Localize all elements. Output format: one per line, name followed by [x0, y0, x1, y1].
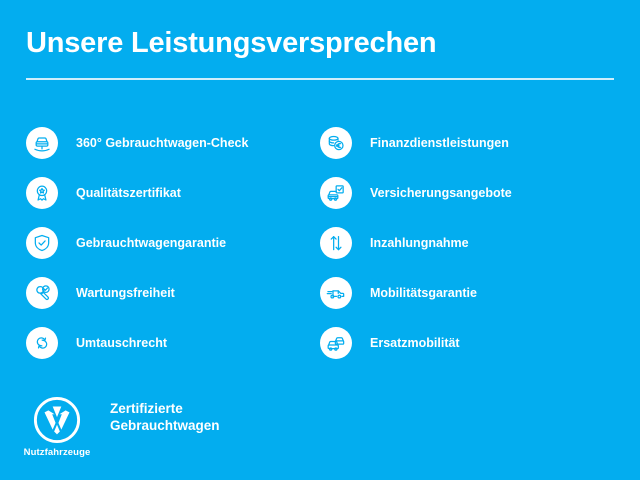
promise-label: Umtauschrecht — [76, 335, 167, 351]
promise-item-inzahlungnahme[interactable]: Inzahlungnahme — [320, 218, 614, 268]
up-down-arrows-icon — [320, 227, 352, 259]
promise-label: Wartungsfreiheit — [76, 285, 175, 301]
promise-item-umtauschrecht[interactable]: Umtauschrecht — [26, 318, 320, 368]
vw-roundel-logo — [33, 396, 81, 444]
car-inspection-icon — [26, 127, 58, 159]
promises-list: 360° Gebrauchtwagen-Check Qualitätszerti… — [26, 118, 614, 368]
promise-item-gebrauchtwagengarantie[interactable]: Gebrauchtwagengarantie — [26, 218, 320, 268]
promise-label: Inzahlungnahme — [370, 235, 469, 251]
wrench-check-icon — [26, 277, 58, 309]
promise-label: Gebrauchtwagengarantie — [76, 235, 226, 251]
vw-wordmark: Nutzfahrzeuge — [24, 447, 91, 458]
vw-logo-block: Nutzfahrzeuge — [26, 396, 88, 458]
coins-euro-icon — [320, 127, 352, 159]
footer-claim-line2: Gebrauchtwagen — [110, 417, 220, 434]
slide-root: Unsere Leistungsversprechen 360° Gebrauc… — [0, 0, 640, 480]
promise-item-ersatzmobilitaet[interactable]: Ersatzmobilität — [320, 318, 614, 368]
promise-item-versicherungsangebote[interactable]: Versicherungsangebote — [320, 168, 614, 218]
promise-item-qualitaetszertifikat[interactable]: Qualitätszertifikat — [26, 168, 320, 218]
two-cars-icon — [320, 327, 352, 359]
shield-check-icon — [26, 227, 58, 259]
title-divider — [26, 78, 614, 80]
footer-claim-line1: Zertifizierte — [110, 400, 220, 417]
promise-item-gebrauchtwagen-check[interactable]: 360° Gebrauchtwagen-Check — [26, 118, 320, 168]
promise-item-mobilitaetsgarantie[interactable]: Mobilitätsgarantie — [320, 268, 614, 318]
promise-label: Mobilitätsgarantie — [370, 285, 477, 301]
award-rosette-icon — [26, 177, 58, 209]
promise-label: Versicherungsangebote — [370, 185, 512, 201]
promise-label: Ersatzmobilität — [370, 335, 460, 351]
footer-claim: Zertifizierte Gebrauchtwagen — [110, 400, 220, 434]
footer-logo-lockup: Nutzfahrzeuge Zertifizierte Gebrauchtwag… — [26, 396, 220, 458]
promise-label: Finanzdienstleistungen — [370, 135, 509, 151]
car-document-check-icon — [320, 177, 352, 209]
promise-item-wartungsfreiheit[interactable]: Wartungsfreiheit — [26, 268, 320, 318]
exchange-arrows-icon — [26, 327, 58, 359]
promise-label: Qualitätszertifikat — [76, 185, 181, 201]
page-title: Unsere Leistungsversprechen — [26, 26, 614, 60]
promises-column-left: 360° Gebrauchtwagen-Check Qualitätszerti… — [26, 118, 320, 368]
promise-label: 360° Gebrauchtwagen-Check — [76, 135, 248, 151]
promise-item-finanzdienstleistungen[interactable]: Finanzdienstleistungen — [320, 118, 614, 168]
promises-column-right: Finanzdienstleistungen Versicherungsange… — [320, 118, 614, 368]
header: Unsere Leistungsversprechen — [26, 26, 614, 80]
van-speed-icon — [320, 277, 352, 309]
